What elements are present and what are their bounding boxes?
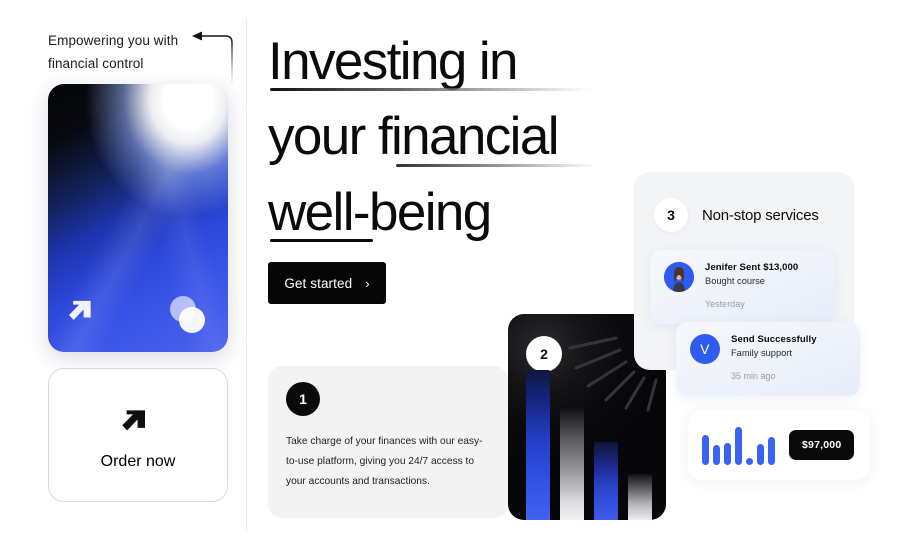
step-3-header: 3 Non-stop services: [634, 172, 854, 232]
step-1-badge: 1: [286, 382, 320, 416]
avatar-initial: V: [690, 334, 720, 364]
balance-chart-card: $97,000: [688, 410, 870, 480]
hero-headline: Investing in your financial well-being: [268, 24, 688, 250]
step-2-bar: [560, 408, 584, 520]
headline-line-2: your financial: [268, 99, 688, 174]
step-2-badge: 2: [526, 336, 562, 372]
notification-row: Jenifer Sent $13,000 Bought course: [650, 250, 834, 292]
notification-item[interactable]: V Send Successfully Family support 35 mi…: [676, 322, 860, 396]
headline-line-3: well-being: [268, 175, 688, 250]
step-3-title: Non-stop services: [702, 207, 819, 224]
chevron-right-icon: ›: [365, 277, 369, 290]
bar-4: [735, 427, 742, 465]
bar-7: [768, 437, 775, 465]
headline-line-1: Investing in: [268, 24, 688, 99]
notification-item[interactable]: Jenifer Sent $13,000 Bought course Yeste…: [650, 250, 834, 324]
avatar-photo-icon: [664, 262, 694, 292]
dual-circle-logo-icon: [170, 296, 212, 334]
step-2-bar: [628, 474, 652, 520]
bar-chart: [702, 425, 775, 465]
bar-5: [746, 458, 753, 465]
notification-subtitle: Family support: [731, 348, 817, 358]
vertical-divider: [246, 18, 247, 532]
pointer-arrow-icon: [190, 26, 242, 88]
brand-arrow-icon: [64, 290, 104, 330]
get-started-label: Get started: [284, 276, 352, 291]
bar-1: [702, 435, 709, 465]
notification-time: 35 min ago: [676, 364, 860, 381]
step-2-bar: [594, 442, 618, 520]
bar-2: [713, 445, 720, 465]
bar-6: [757, 444, 764, 465]
notification-time: Yesterday: [650, 292, 834, 309]
order-now-card[interactable]: Order now: [48, 368, 228, 502]
step-3-badge: 3: [654, 198, 688, 232]
notification-title: Send Successfully: [731, 334, 817, 345]
amount-badge: $97,000: [789, 430, 854, 460]
notification-row: V Send Successfully Family support: [676, 322, 860, 364]
step-1-card: 1 Take charge of your finances with our …: [268, 366, 508, 518]
tagline-text: Empowering you with financial control: [48, 30, 198, 76]
credit-card-visual: [48, 84, 228, 352]
avatar: [664, 262, 694, 292]
get-started-button[interactable]: Get started ›: [268, 262, 386, 304]
step-2-bar: [526, 370, 550, 520]
order-now-label: Order now: [101, 453, 176, 471]
landing-page: Empowering you with financial control Or…: [0, 0, 900, 550]
notification-title: Jenifer Sent $13,000: [705, 262, 798, 273]
step-2-bar-chart: [508, 370, 666, 520]
avatar: V: [690, 334, 720, 364]
notification-subtitle: Bought course: [705, 276, 798, 286]
step-1-text: Take charge of your finances with our ea…: [286, 432, 490, 492]
bar-3: [724, 443, 731, 465]
brand-arrow-icon: [117, 399, 159, 441]
